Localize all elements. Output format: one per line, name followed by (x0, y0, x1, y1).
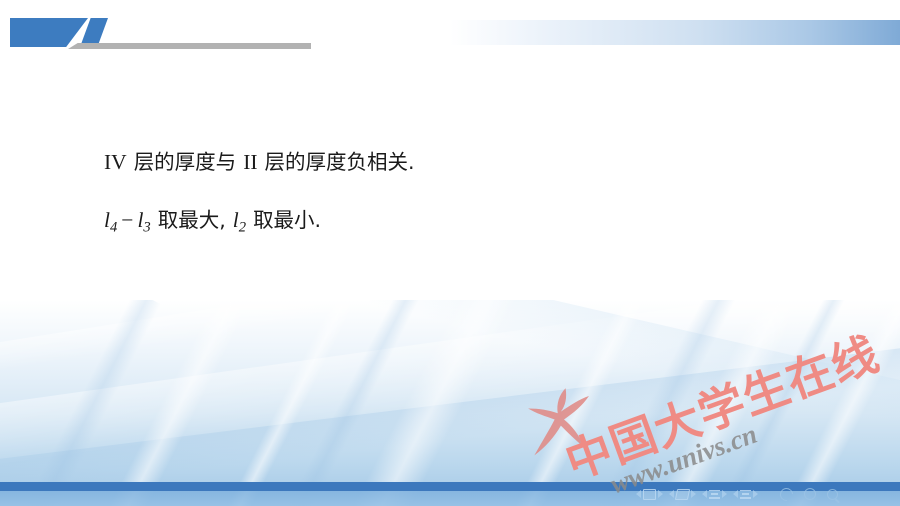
back-arrow-icon[interactable] (777, 485, 795, 503)
minus-operator: − (121, 208, 133, 232)
subsection-navigation-group[interactable] (702, 490, 727, 499)
slide-icon[interactable] (643, 489, 656, 500)
line1-text-part-1: 层的厚度与 (134, 150, 237, 174)
section-icon[interactable] (740, 490, 751, 499)
line2-text-part-1: 取最大, (158, 208, 226, 232)
slide-header (0, 0, 900, 60)
roman-numeral-two: II (243, 150, 257, 174)
prev-slide-icon[interactable] (636, 490, 641, 498)
next-subsection-icon[interactable] (722, 490, 727, 498)
math-l3-subscript: 3 (143, 219, 150, 235)
statement-line-1: IV层的厚度与II层的厚度负相关. (104, 152, 824, 174)
header-blue-parallelogram (10, 18, 88, 47)
math-l2-subscript: 2 (239, 219, 246, 235)
next-frame-icon[interactable] (691, 490, 696, 498)
slide-navigation-group[interactable] (636, 489, 663, 500)
line2-text-part-2: 取最小. (253, 208, 321, 232)
math-l4: l4 (104, 208, 117, 232)
header-gradient-bar (450, 20, 900, 45)
header-gray-bar (68, 43, 311, 49)
statement-line-2: l4−l3取最大,l2取最小. (104, 210, 824, 235)
presentation-slide: IV层的厚度与II层的厚度负相关. l4−l3取最大,l2取最小. 中国大学生在… (0, 0, 900, 506)
frame-icon[interactable] (675, 489, 690, 500)
math-l3: l3 (137, 208, 150, 232)
magnifier-icon[interactable] (804, 488, 816, 500)
search-icon[interactable] (827, 489, 838, 500)
line1-text-part-2: 层的厚度负相关. (265, 150, 415, 174)
frame-navigation-group[interactable] (669, 489, 696, 500)
slide-body: IV层的厚度与II层的厚度负相关. l4−l3取最大,l2取最小. (104, 152, 824, 235)
math-l4-subscript: 4 (110, 219, 117, 235)
prev-frame-icon[interactable] (669, 490, 674, 498)
slide-footer-decoration (0, 300, 900, 506)
section-navigation-group[interactable] (733, 490, 758, 499)
prev-subsection-icon[interactable] (702, 490, 707, 498)
roman-numeral-four: IV (104, 150, 127, 174)
next-slide-icon[interactable] (658, 490, 663, 498)
prev-section-icon[interactable] (733, 490, 738, 498)
subsection-icon[interactable] (709, 490, 720, 499)
beamer-navigation-bar[interactable] (636, 486, 838, 502)
extra-navigation-group[interactable] (780, 488, 838, 501)
math-l2: l2 (233, 208, 246, 232)
next-section-icon[interactable] (753, 490, 758, 498)
